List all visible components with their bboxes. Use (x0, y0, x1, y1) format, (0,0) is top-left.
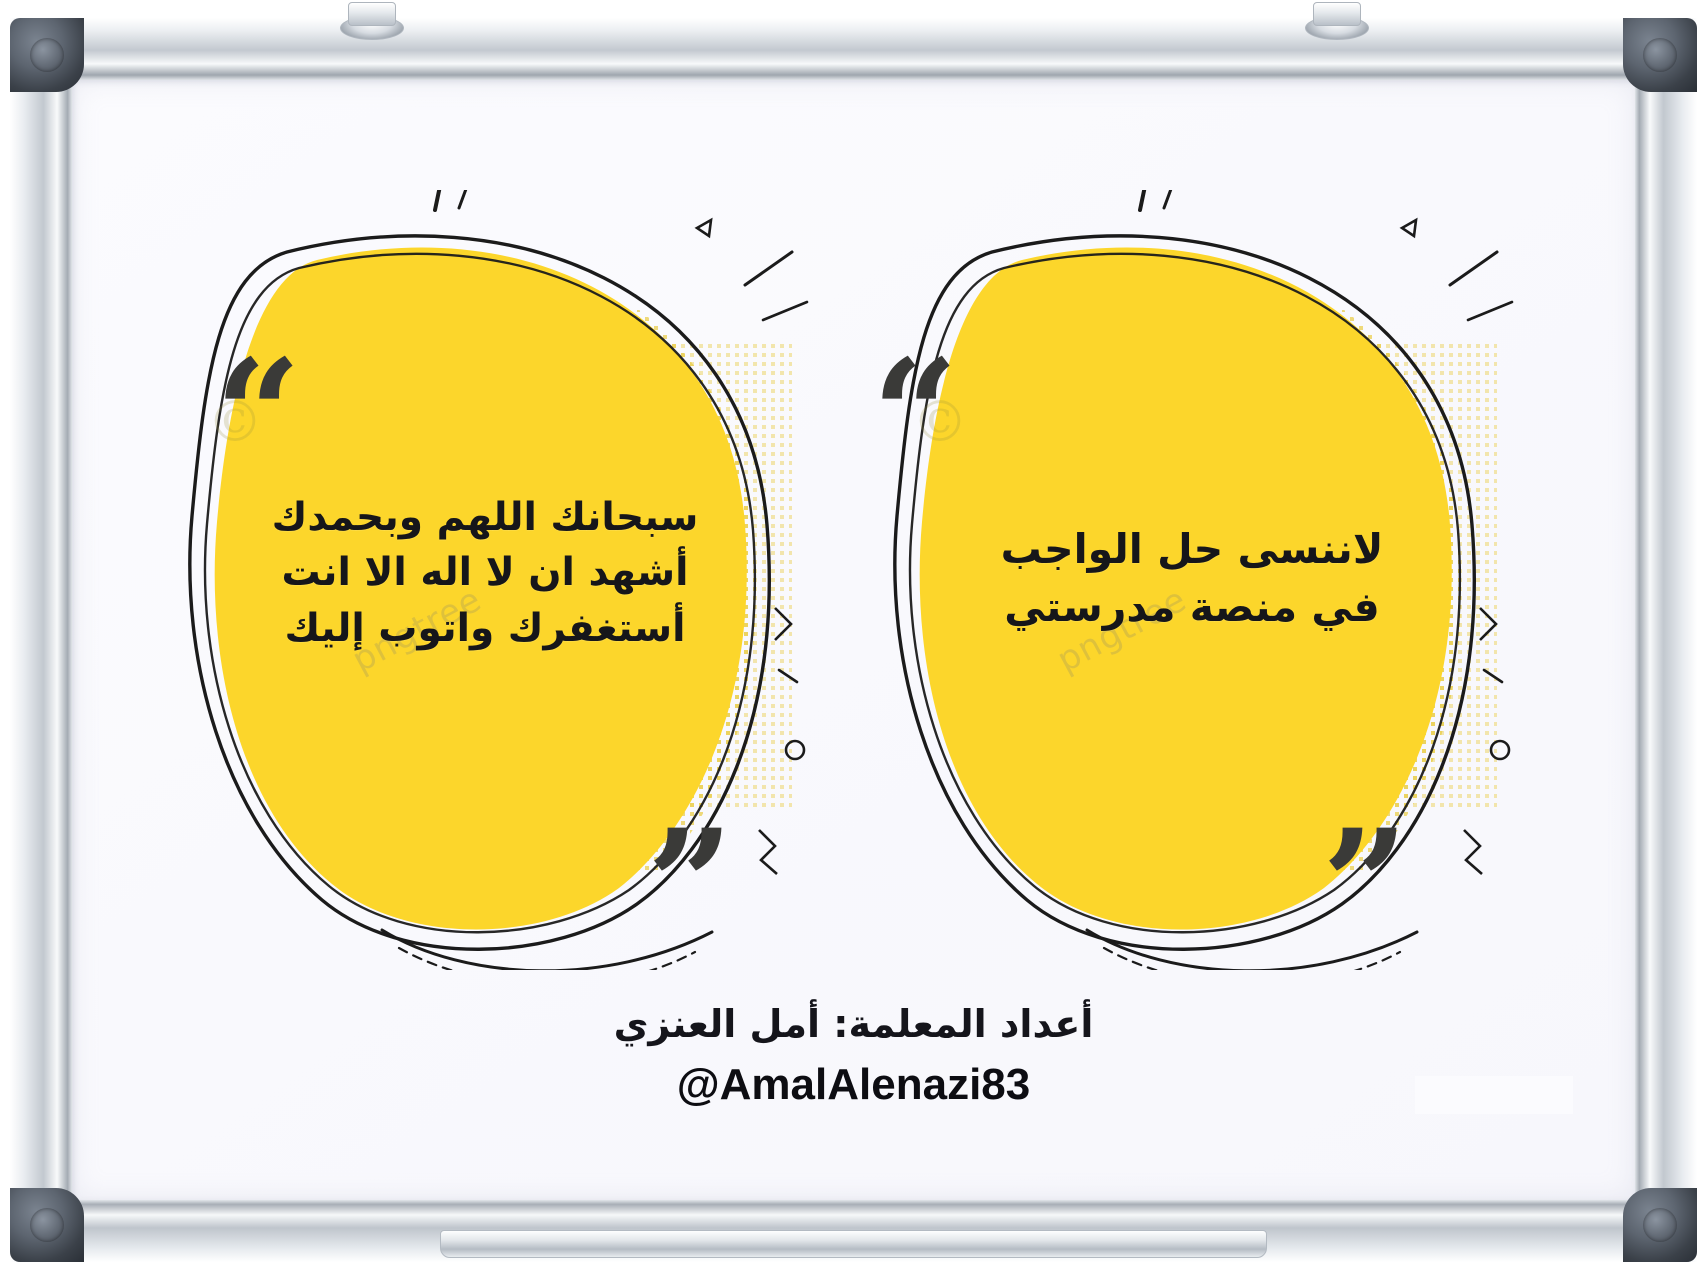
wall-mount-bracket-right (1305, 2, 1367, 36)
wall-mount-bracket-left (340, 2, 402, 36)
quote-close-icon: ” (1322, 810, 1408, 960)
frame-corner-bottom-right (1623, 1188, 1697, 1262)
frame-band-right (1635, 18, 1697, 1262)
whiteboard-scene: pngtree © “ ” سبحانك اللهم وبحمدك أشهد ا… (0, 0, 1707, 1280)
frame-corner-bottom-left (10, 1188, 84, 1262)
bubble-right-text: لاننسى حل الواجب في منصة مدرستي (922, 520, 1462, 636)
speech-bubble-left: pngtree © “ ” سبحانك اللهم وبحمدك أشهد ا… (167, 190, 827, 970)
blank-badge-area (1415, 1076, 1573, 1114)
frame-band-left (10, 18, 72, 1262)
quote-close-icon: ” (647, 810, 733, 960)
mount-plate-icon (1313, 2, 1361, 26)
frame-corner-top-right (1623, 18, 1697, 92)
whiteboard-frame: pngtree © “ ” سبحانك اللهم وبحمدك أشهد ا… (10, 18, 1697, 1262)
social-handle-text: @AmalAlenazi83 (72, 1060, 1635, 1110)
credits-block: أعداد المعلمة: أمل العنزي @AmalAlenazi83 (72, 1002, 1635, 1110)
mount-plate-icon (348, 2, 396, 26)
frame-band-top (10, 18, 1697, 80)
board-content-stage: pngtree © “ ” سبحانك اللهم وبحمدك أشهد ا… (72, 80, 1635, 1200)
prepared-by-text: أعداد المعلمة: أمل العنزي (72, 1002, 1635, 1046)
pen-tray (440, 1230, 1267, 1258)
speech-bubble-right: pngtree © “ ” لاننسى حل الواجب في منصة م… (872, 190, 1532, 970)
quote-open-icon: “ (872, 340, 958, 490)
quote-open-icon: “ (215, 340, 301, 490)
bubble-left-text: سبحانك اللهم وبحمدك أشهد ان لا اله الا ا… (185, 490, 785, 656)
frame-corner-top-left (10, 18, 84, 92)
